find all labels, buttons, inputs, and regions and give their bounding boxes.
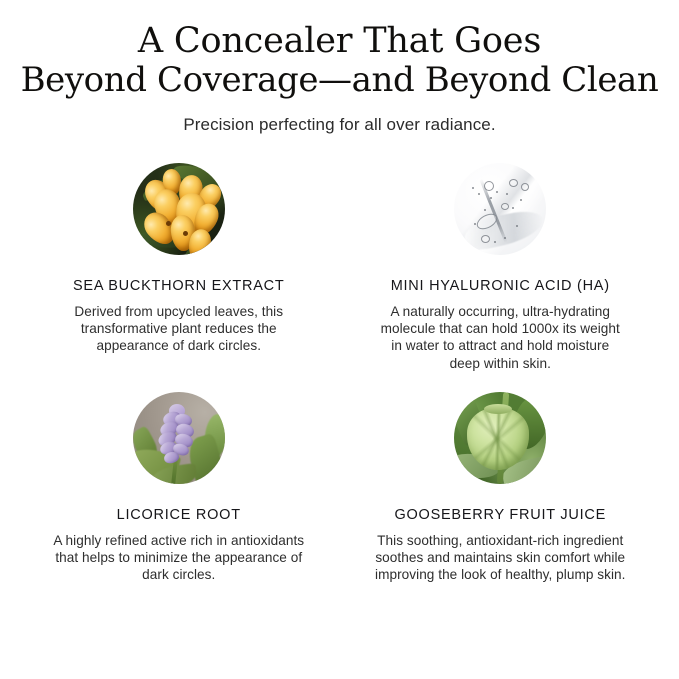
ingredient-image-wrap xyxy=(133,392,225,484)
husk-cap xyxy=(484,404,512,414)
ingredient-description: A highly refined active rich in antioxid… xyxy=(53,532,305,584)
ingredient-grid: SEA BUCKTHORN EXTRACT Derived from upcyc… xyxy=(0,163,679,583)
ingredient-description: Derived from upcycled leaves, this trans… xyxy=(53,303,305,355)
page-title: A Concealer That Goes Beyond Coverage—an… xyxy=(0,22,679,100)
headline-line-1: A Concealer That Goes xyxy=(16,22,663,61)
header: A Concealer That Goes Beyond Coverage—an… xyxy=(0,0,679,135)
ingredient-image-wrap xyxy=(133,163,225,255)
ingredient-title: MINI HYALURONIC ACID (HA) xyxy=(391,277,610,295)
ingredient-description: This soothing, antioxidant-rich ingredie… xyxy=(374,532,626,584)
ingredient-image-wrap xyxy=(454,392,546,484)
berry-calyx xyxy=(183,231,188,236)
ingredient-card-hyaluronic-acid: MINI HYALURONIC ACID (HA) A naturally oc… xyxy=(340,163,662,372)
ingredient-description: A naturally occurring, ultra-hydrating m… xyxy=(374,303,626,372)
ingredient-card-licorice-root: LICORICE ROOT A highly refined active ri… xyxy=(18,392,340,584)
ingredient-card-sea-buckthorn: SEA BUCKTHORN EXTRACT Derived from upcyc… xyxy=(18,163,340,372)
ingredient-title: SEA BUCKTHORN EXTRACT xyxy=(73,277,285,295)
berry-calyx xyxy=(166,221,171,226)
page-subtitle: Precision perfecting for all over radian… xyxy=(0,114,679,135)
sea-buckthorn-berries-icon xyxy=(133,163,225,255)
gooseberry-fruit-icon xyxy=(454,392,546,484)
husk-veins xyxy=(467,408,529,470)
ingredient-card-gooseberry: GOOSEBERRY FRUIT JUICE This soothing, an… xyxy=(340,392,662,584)
product-ingredients-infographic: A Concealer That Goes Beyond Coverage—an… xyxy=(0,0,679,679)
licorice-root-flower-icon xyxy=(133,392,225,484)
ingredient-title: LICORICE ROOT xyxy=(117,506,241,524)
hyaluronic-acid-gel-icon xyxy=(454,163,546,255)
ingredient-title: GOOSEBERRY FRUIT JUICE xyxy=(395,506,607,524)
ingredient-image-wrap xyxy=(454,163,546,255)
headline-line-2: Beyond Coverage—and Beyond Clean xyxy=(16,61,663,100)
